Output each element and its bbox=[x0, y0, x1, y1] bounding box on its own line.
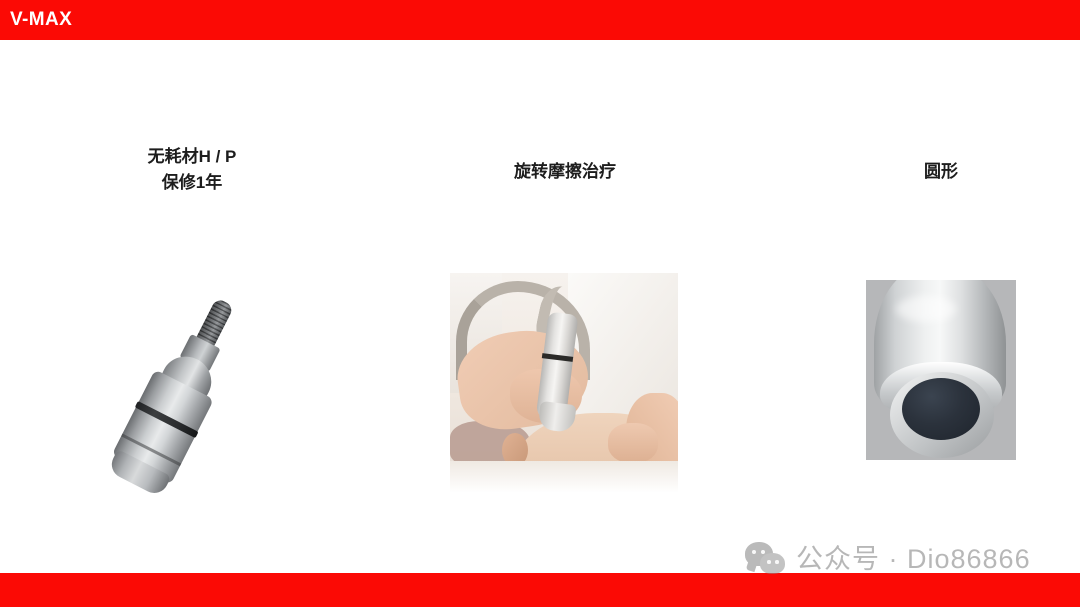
wechat-eye-2 bbox=[761, 550, 765, 554]
wechat-eye-1 bbox=[752, 550, 756, 554]
treatment-bed-sheet bbox=[450, 461, 678, 493]
panel-caption-round-tip: 圆形 bbox=[866, 159, 1016, 185]
tip-highlight bbox=[896, 296, 956, 322]
wechat-icon bbox=[745, 542, 787, 576]
handpiece-graphic bbox=[50, 249, 317, 527]
panel-caption-treatment: 旋转摩擦治疗 bbox=[455, 159, 675, 185]
watermark-text: 公众号 · Dio86866 bbox=[796, 542, 1031, 576]
wechat-eye-3 bbox=[767, 560, 771, 564]
handpiece-photo bbox=[88, 280, 278, 495]
slide-body: 无耗材H / P 保修1年 旋转摩擦治疗 圆形 bbox=[0, 40, 1080, 573]
header-bar bbox=[0, 0, 1080, 40]
wechat-eye-4 bbox=[775, 560, 779, 564]
tip-round-head bbox=[902, 378, 980, 440]
wechat-bubble-small bbox=[760, 553, 785, 574]
page-title: V-MAX bbox=[10, 9, 72, 31]
watermark: 公众号 · Dio86866 bbox=[745, 536, 1075, 582]
therapist-right-fingers bbox=[608, 423, 658, 463]
treatment-photo bbox=[450, 273, 678, 493]
round-tip-photo bbox=[866, 280, 1016, 460]
panel-caption-handpiece: 无耗材H / P 保修1年 bbox=[92, 144, 292, 196]
